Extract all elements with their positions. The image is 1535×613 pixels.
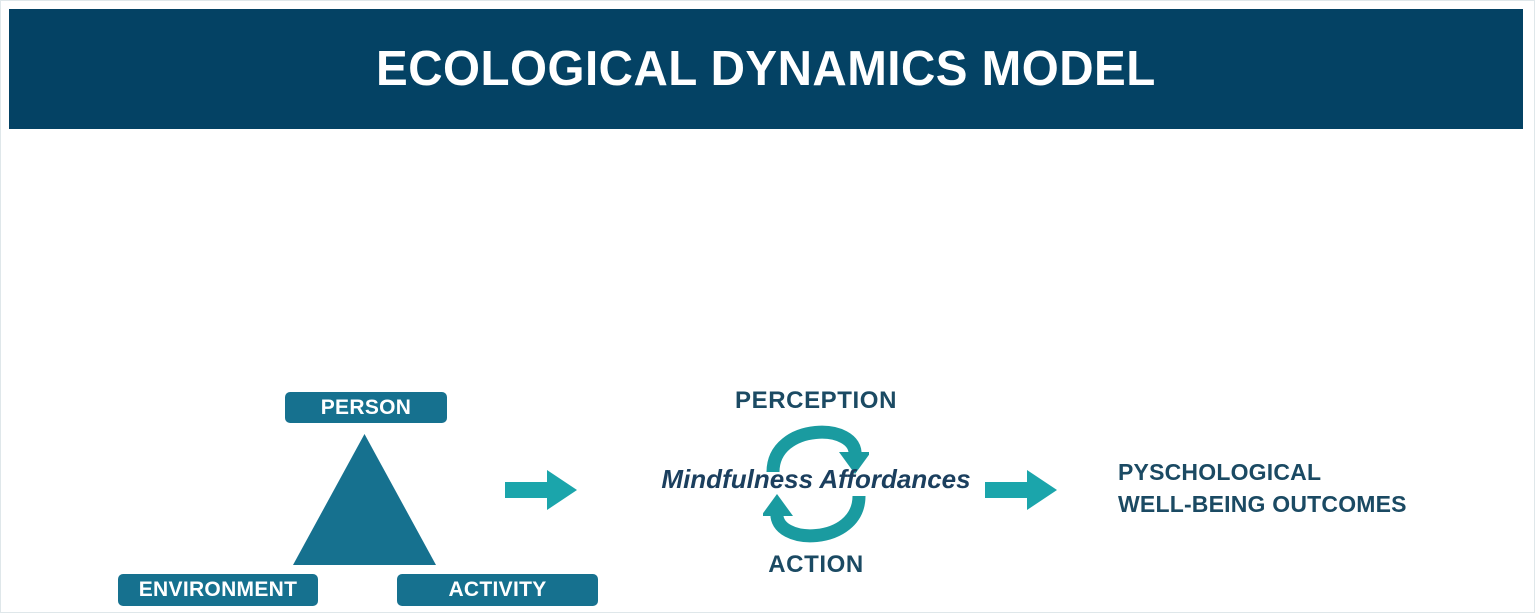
perception-action-cycle: PERCEPTION Mindfulness Affordances ACTIO…: [641, 381, 991, 586]
person-box: PERSON: [285, 392, 447, 423]
action-label: ACTION: [641, 551, 991, 579]
person-label: PERSON: [321, 396, 412, 420]
perception-label: PERCEPTION: [641, 387, 991, 415]
activity-box: ACTIVITY: [397, 574, 598, 606]
outcomes-line-2: WELL-BEING OUTCOMES: [1118, 488, 1407, 520]
header-bar: ECOLOGICAL DYNAMICS MODEL: [9, 9, 1523, 129]
psychological-wellbeing-outcomes: PYSCHOLOGICAL WELL-BEING OUTCOMES: [1118, 456, 1407, 520]
triangle-shape: [293, 434, 436, 565]
right-arrow-icon: [505, 467, 577, 513]
curved-arrow-counterclockwise-icon: [763, 494, 869, 556]
environment-label: ENVIRONMENT: [139, 578, 297, 602]
page-title: ECOLOGICAL DYNAMICS MODEL: [376, 45, 1156, 94]
activity-label: ACTIVITY: [448, 578, 546, 602]
slide-canvas: ECOLOGICAL DYNAMICS MODEL PERSON ENVIRON…: [0, 0, 1535, 613]
right-arrow-icon: [985, 467, 1057, 513]
outcomes-line-1: PYSCHOLOGICAL: [1118, 456, 1407, 488]
environment-box: ENVIRONMENT: [118, 574, 318, 606]
mindfulness-affordances-label: Mindfulness Affordances: [641, 464, 991, 495]
